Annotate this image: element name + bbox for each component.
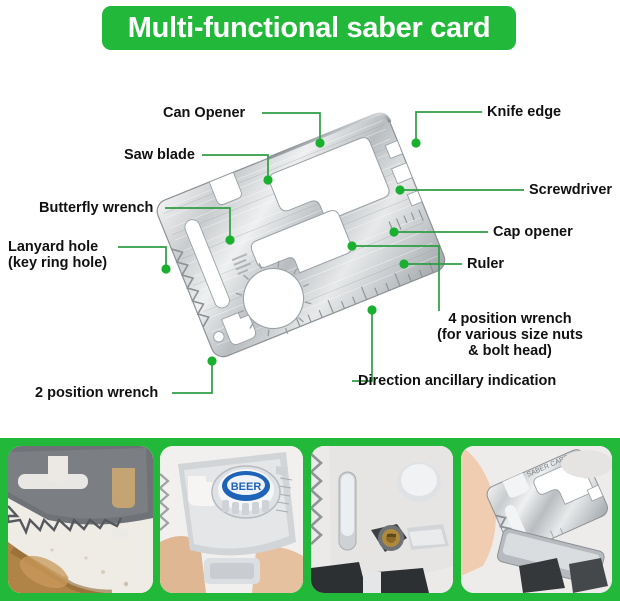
dot-can-opener xyxy=(315,138,324,147)
gallery-panel-screwdriver[interactable] xyxy=(311,446,453,593)
dot-direction-indication xyxy=(367,305,376,314)
callout-label-lanyard-hole-line2: (key ring hole) xyxy=(8,255,107,271)
callout-label-lanyard-hole: Lanyard hole (key ring hole) xyxy=(8,239,107,271)
callout-label-4-position-wrench: 4 position wrench (for various size nuts… xyxy=(410,311,610,359)
callout-label-saw-blade: Saw blade xyxy=(124,147,195,163)
gallery-panel-wrench[interactable]: SABER CARD xyxy=(461,446,612,593)
dot-screwdriver xyxy=(395,185,404,194)
callout-label-4-position-wrench-line3: & bolt head) xyxy=(410,343,610,359)
callout-label-4-position-wrench-line2: (for various size nuts xyxy=(410,327,610,343)
callout-label-butterfly-wrench: Butterfly wrench xyxy=(39,200,153,216)
callout-label-lanyard-hole-line1: Lanyard hole xyxy=(8,239,107,255)
photo-saw-cutting-wood xyxy=(8,446,153,593)
callout-label-2-position-wrench: 2 position wrench xyxy=(35,385,158,401)
gallery-panel-saw[interactable] xyxy=(8,446,153,593)
tool-card-graphic xyxy=(154,111,449,362)
dot-saw-blade xyxy=(263,175,272,184)
gallery-strip: BEER xyxy=(0,438,620,601)
callout-label-4-position-wrench-line1: 4 position wrench xyxy=(410,311,610,327)
dot-knife-edge xyxy=(411,138,420,147)
callout-label-ruler: Ruler xyxy=(467,256,504,272)
dot-cap-opener xyxy=(389,227,398,236)
callout-label-screwdriver: Screwdriver xyxy=(529,182,612,198)
dot-ruler xyxy=(399,259,408,268)
dot-lanyard-hole xyxy=(161,264,170,273)
callout-label-direction-indication: Direction ancillary indication xyxy=(358,373,556,389)
photo-screwdriver-on-screw xyxy=(311,446,453,593)
dot-4-position-wrench xyxy=(347,241,356,250)
photo-cap-opener-in-use: BEER xyxy=(160,446,303,593)
page-title: Multi-functional saber card xyxy=(128,14,491,43)
callout-label-knife-edge: Knife edge xyxy=(487,104,561,120)
photo-wrench-gripping-bolt: SABER CARD xyxy=(461,446,612,593)
dot-2-position-wrench xyxy=(207,356,216,365)
page-title-banner: Multi-functional saber card xyxy=(102,6,516,50)
gallery-panel-cap-opener[interactable]: BEER xyxy=(160,446,303,593)
callout-label-can-opener: Can Opener xyxy=(163,105,245,121)
product-diagram: Can Opener Saw blade Butterfly wrench La… xyxy=(0,56,620,416)
dot-butterfly-wrench xyxy=(225,235,234,244)
callout-label-cap-opener: Cap opener xyxy=(493,224,573,240)
svg-text:BEER: BEER xyxy=(231,481,262,493)
